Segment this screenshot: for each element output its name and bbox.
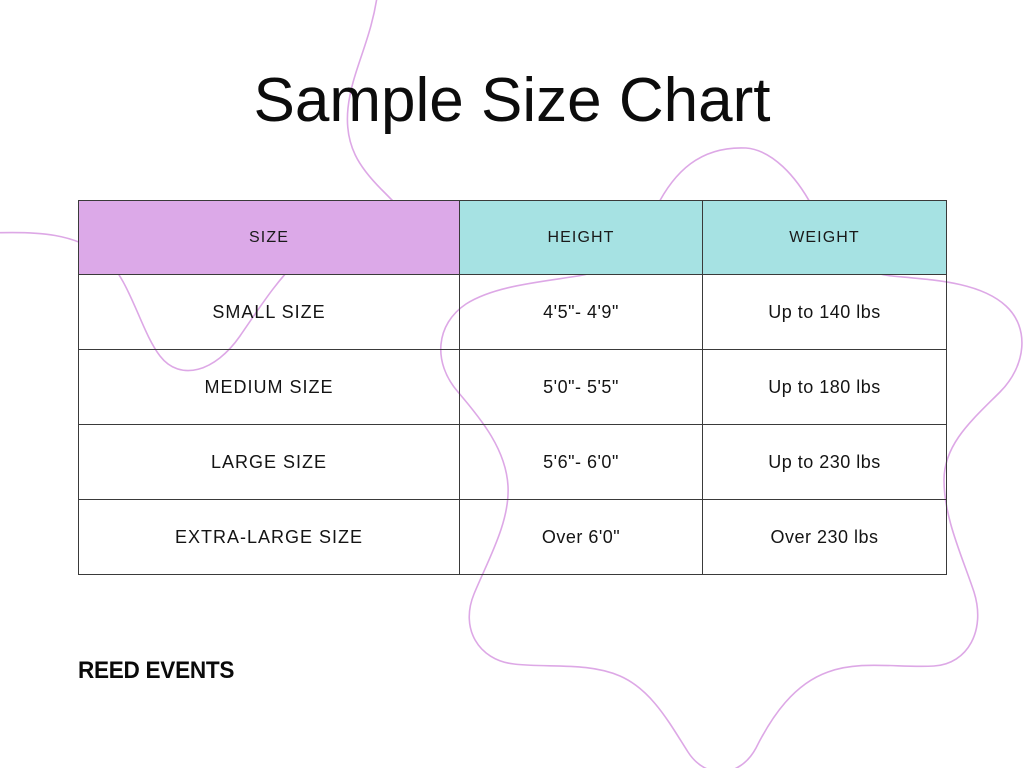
table-body: SMALL SIZE 4'5"- 4'9" Up to 140 lbs MEDI… <box>79 275 947 575</box>
cell-size: SMALL SIZE <box>79 275 460 350</box>
column-header-height: HEIGHT <box>460 201 703 275</box>
slide-canvas: Sample Size Chart SIZE HEIGHT WEIGHT SMA… <box>0 0 1024 768</box>
table-header: SIZE HEIGHT WEIGHT <box>79 201 947 275</box>
cell-height: Over 6'0" <box>460 500 703 575</box>
column-header-size: SIZE <box>79 201 460 275</box>
table-header-row: SIZE HEIGHT WEIGHT <box>79 201 947 275</box>
cell-size: LARGE SIZE <box>79 425 460 500</box>
brand-logo-text: REED EVENTS <box>78 657 234 685</box>
table-row: MEDIUM SIZE 5'0"- 5'5" Up to 180 lbs <box>79 350 947 425</box>
cell-height: 5'6"- 6'0" <box>460 425 703 500</box>
column-header-weight: WEIGHT <box>703 201 947 275</box>
size-chart-table: SIZE HEIGHT WEIGHT SMALL SIZE 4'5"- 4'9"… <box>78 200 947 575</box>
cell-weight: Up to 140 lbs <box>703 275 947 350</box>
table-row: SMALL SIZE 4'5"- 4'9" Up to 140 lbs <box>79 275 947 350</box>
page-title: Sample Size Chart <box>0 70 1024 132</box>
table-row: LARGE SIZE 5'6"- 6'0" Up to 230 lbs <box>79 425 947 500</box>
cell-weight: Up to 230 lbs <box>703 425 947 500</box>
table-row: EXTRA-LARGE SIZE Over 6'0" Over 230 lbs <box>79 500 947 575</box>
cell-size: MEDIUM SIZE <box>79 350 460 425</box>
cell-weight: Up to 180 lbs <box>703 350 947 425</box>
cell-weight: Over 230 lbs <box>703 500 947 575</box>
cell-size: EXTRA-LARGE SIZE <box>79 500 460 575</box>
cell-height: 5'0"- 5'5" <box>460 350 703 425</box>
cell-height: 4'5"- 4'9" <box>460 275 703 350</box>
